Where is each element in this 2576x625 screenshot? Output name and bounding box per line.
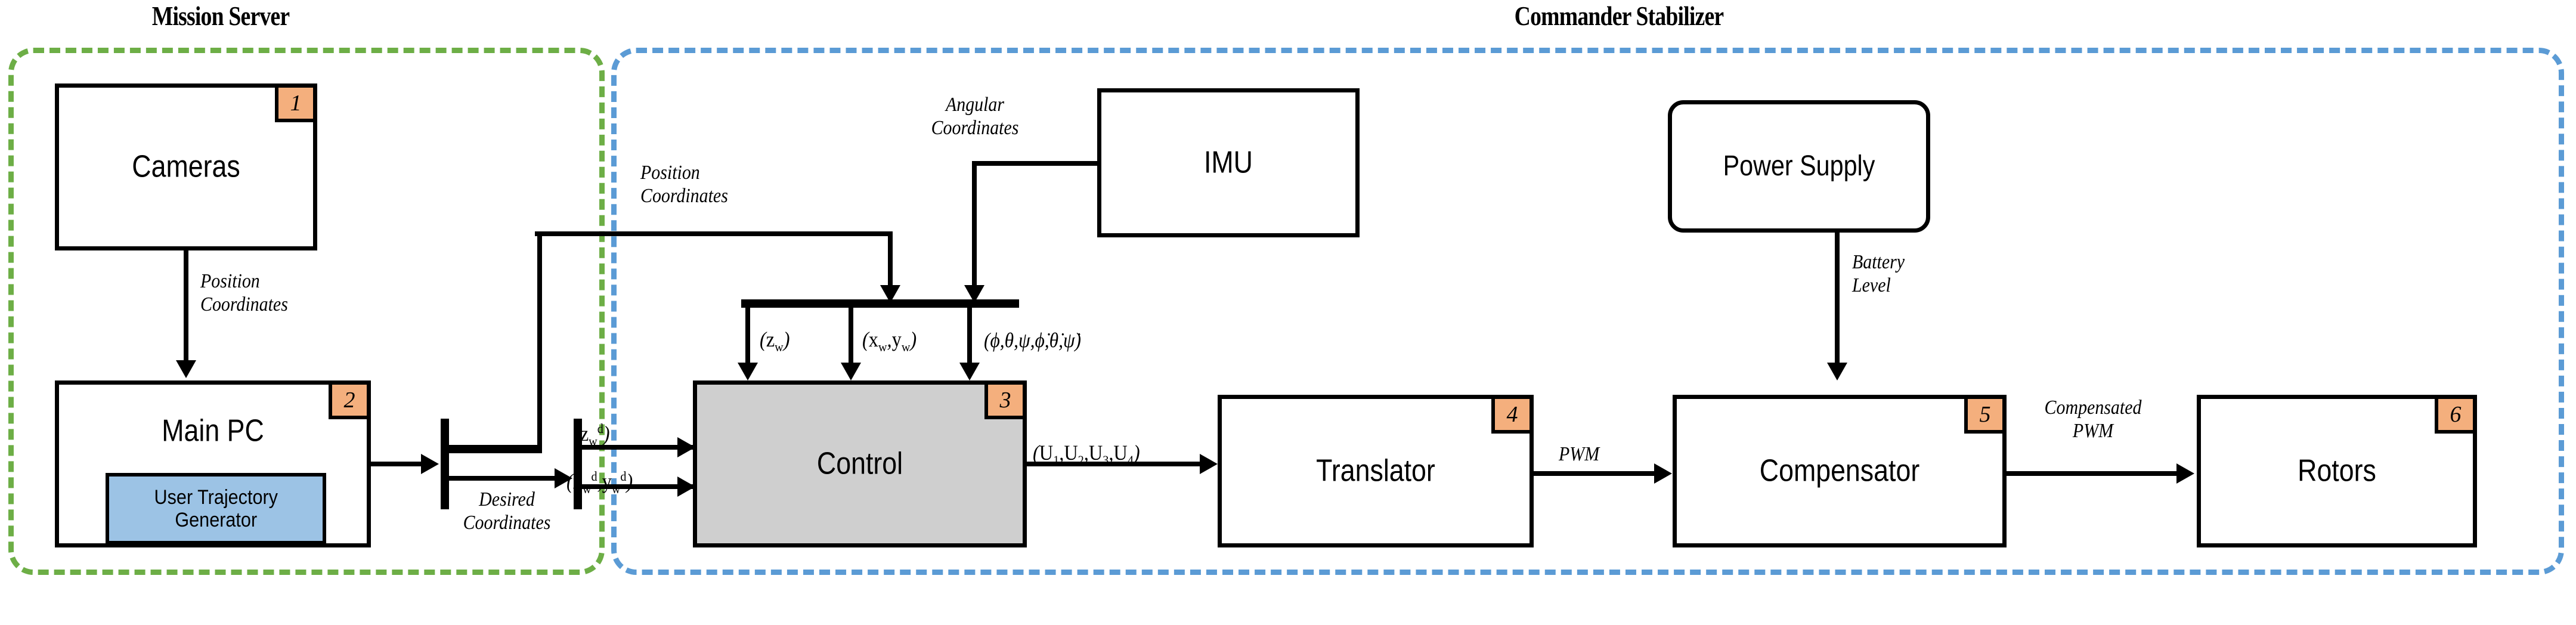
block-label-cameras: Cameras: [77, 151, 295, 184]
wire-position-coordinates-top-route: [535, 231, 893, 236]
math-label-control-outputs: (U1,U2,U3,U4): [1033, 440, 1140, 468]
arrowhead-cameras-to-mainpc: [176, 360, 196, 378]
arrowhead-attitude-into-control: [959, 363, 980, 380]
wire-cameras-to-mainpc: [184, 250, 188, 370]
wire-power-supply-to-compensator: [1835, 233, 1840, 373]
wire-imu-to-bus: [972, 161, 1100, 166]
arrowhead-xyw-into-control: [841, 363, 861, 380]
subblock-user-trajectory-generator[interactable]: User Trajectory Generator: [106, 473, 326, 544]
arrowhead-translator-to-compensator: [1654, 463, 1672, 484]
block-badge-main-pc: 2: [329, 385, 367, 419]
block-badge-rotors: 6: [2435, 399, 2473, 434]
wire-translator-to-compensator: [1534, 471, 1660, 476]
block-badge-translator: 4: [1491, 399, 1529, 434]
wire-imu-drop: [972, 161, 977, 297]
signal-label-battery-level: Battery Level: [1852, 250, 1905, 298]
wire-position-coordinates-bus-top: [441, 445, 542, 453]
block-label-power-supply: Power Supply: [1690, 151, 1908, 181]
arrowhead-power-supply-to-compensator: [1827, 363, 1847, 380]
block-label-imu: IMU: [1119, 147, 1337, 180]
group-title-mission-server: Mission Server: [40, 0, 402, 32]
signal-label-compensated-pwm: Compensated PWM: [2007, 396, 2179, 443]
block-label-compensator: Compensator: [1699, 455, 1980, 488]
wire-compensator-to-rotors: [2007, 471, 2182, 476]
block-main-pc[interactable]: 2 Main PC User Trajectory Generator: [55, 380, 371, 547]
block-diagram-canvas: Mission Server Commander Stabilizer 1 Ca…: [0, 0, 2576, 625]
block-badge-control: 3: [984, 385, 1023, 419]
arrowhead-control-to-translator: [1200, 454, 1218, 474]
arrowhead-zw-into-control: [738, 363, 758, 380]
group-title-commander-stabilizer: Commander Stabilizer: [1176, 0, 2061, 32]
block-label-control: Control: [720, 448, 1000, 481]
block-badge-compensator: 5: [1964, 399, 2002, 434]
block-translator[interactable]: 4 Translator: [1218, 395, 1534, 547]
block-control[interactable]: 3 Control: [693, 380, 1027, 547]
junction-bar-control-inputs: [741, 299, 1019, 308]
block-rotors[interactable]: 6 Rotors: [2197, 395, 2477, 547]
math-label-zw: (zw): [760, 327, 789, 355]
block-cameras[interactable]: 1 Cameras: [55, 83, 317, 250]
wire-mainpc-to-junction1: [371, 462, 425, 466]
math-label-attitude: (ϕ,θ,ψ,ϕ̇,θ̇,ψ̇): [984, 329, 1081, 352]
signal-label-position-coordinates-cameras: Position Coordinates: [200, 270, 288, 317]
arrowhead-mainpc-to-junction1: [421, 454, 439, 474]
wire-position-coordinates-riser: [537, 231, 542, 447]
subblock-label-user-trajectory-generator: User Trajectory Generator: [154, 486, 277, 531]
block-imu[interactable]: IMU: [1097, 88, 1360, 237]
block-compensator[interactable]: 5 Compensator: [1673, 395, 2007, 547]
signal-label-desired-coordinates: Desired Coordinates: [428, 488, 586, 535]
block-badge-cameras: 1: [275, 88, 313, 122]
block-label-main-pc: Main PC: [80, 415, 345, 448]
math-label-z-desired: (zwd): [574, 421, 610, 449]
block-power-supply[interactable]: Power Supply: [1668, 100, 1930, 233]
block-label-rotors: Rotors: [2220, 455, 2454, 488]
block-label-translator: Translator: [1243, 455, 1508, 488]
math-label-xy-desired: (xwd,ywd): [566, 469, 633, 497]
signal-label-pwm: PWM: [1559, 443, 1599, 466]
signal-label-position-coordinates-control: Position Coordinates: [640, 161, 728, 208]
math-label-xyw: (xw,yw): [862, 327, 917, 355]
wire-desired-coordinates: [441, 476, 560, 481]
arrowhead-compensator-to-rotors: [2176, 463, 2194, 484]
signal-label-angular-coordinates: Angular Coordinates: [881, 93, 1070, 140]
